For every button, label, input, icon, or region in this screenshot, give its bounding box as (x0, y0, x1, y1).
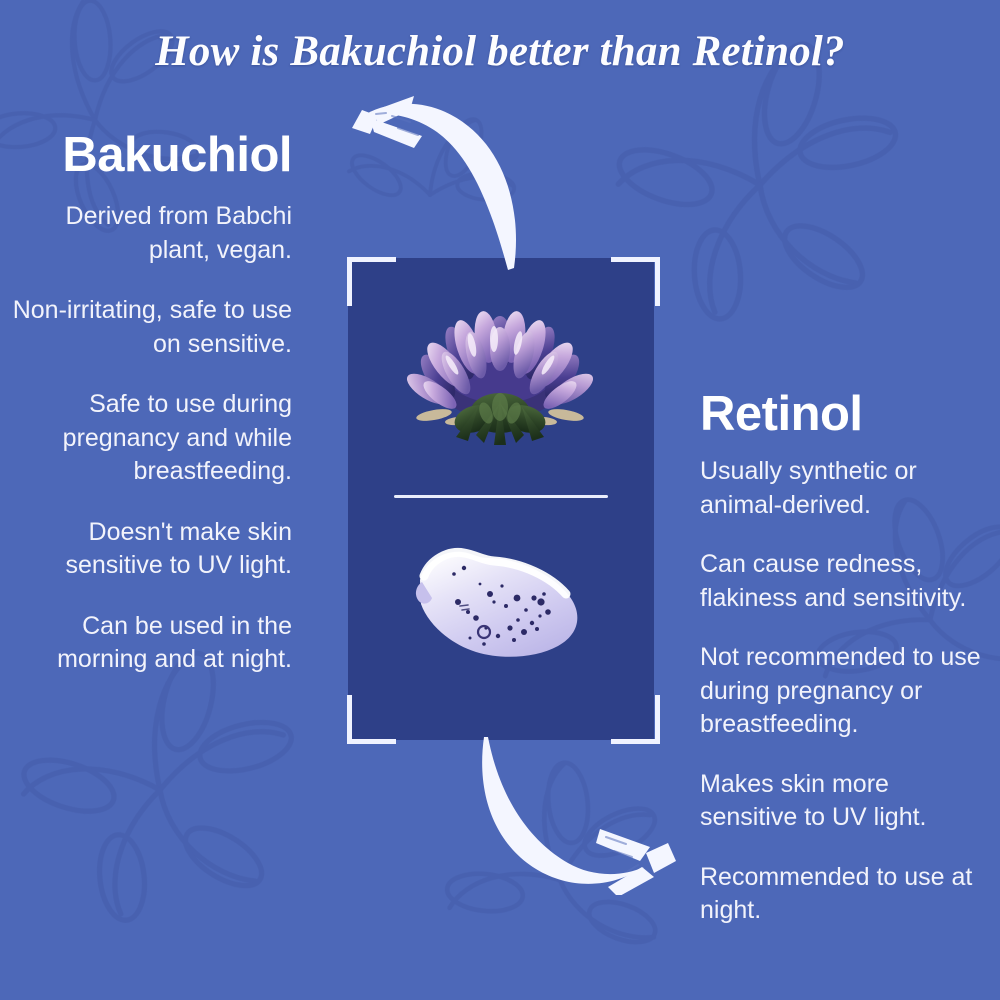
list-item: Recommended to use at night. (700, 861, 992, 928)
list-item: Can be used in the morning and at night. (10, 610, 292, 677)
bakuchiol-benefits-list: Derived from Babchi plant, vegan. Non-ir… (10, 200, 292, 677)
frame-bracket-top-right (611, 257, 660, 306)
list-item: Safe to use during pregnancy and while b… (10, 388, 292, 489)
list-item: Doesn't make skin sensitive to UV light. (10, 516, 292, 583)
curved-arrow-up-left-icon (318, 92, 524, 272)
column-heading-bakuchiol: Bakuchiol (0, 131, 292, 180)
frame-bracket-top-left (347, 257, 396, 306)
panel-divider (394, 495, 608, 498)
list-item: Derived from Babchi plant, vegan. (10, 200, 292, 267)
list-item: Usually synthetic or animal-derived. (700, 455, 992, 522)
list-item: Not recommended to use during pregnancy … (700, 641, 992, 742)
frame-bracket-bottom-right (611, 695, 660, 744)
cream-swatch-image (398, 528, 618, 678)
curved-arrow-down-right-icon (480, 735, 696, 895)
list-item: Makes skin more sensitive to UV light. (700, 768, 992, 835)
frame-bracket-bottom-left (347, 695, 396, 744)
infographic-poster: How is Bakuchiol better than Retinol? Ba… (0, 0, 1000, 1000)
list-item: Can cause redness, flakiness and sensiti… (700, 548, 992, 615)
page-title: How is Bakuchiol better than Retinol? (0, 27, 1000, 76)
retinol-drawbacks-list: Usually synthetic or animal-derived. Can… (700, 455, 992, 928)
babchi-flower-image (398, 303, 602, 453)
list-item: Non-irritating, safe to use on sensitive… (10, 294, 292, 361)
column-heading-retinol: Retinol (700, 390, 1000, 439)
